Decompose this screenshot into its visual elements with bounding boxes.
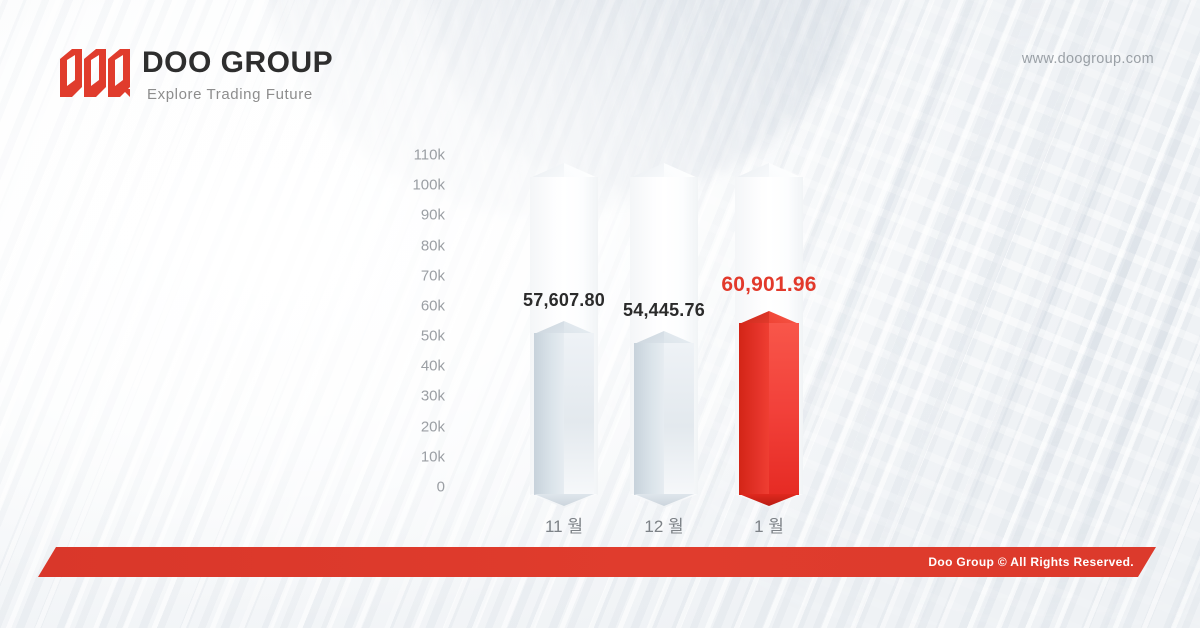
bar-highlighted[interactable] xyxy=(739,311,799,495)
bar-value[interactable] xyxy=(534,321,594,495)
bar-container-top xyxy=(530,163,598,178)
x-axis-category-label: 1 월 xyxy=(754,512,784,537)
bar-value[interactable] xyxy=(634,331,694,495)
infographic-canvas: DOO GROUP Explore Trading Future www.doo… xyxy=(0,0,1200,628)
x-axis-category-label: 12 월 xyxy=(644,512,683,537)
y-axis-tick: 80k xyxy=(390,237,445,254)
bar-value-label: 54,445.76 xyxy=(623,300,705,321)
bar-container-top xyxy=(735,163,803,178)
bar-base-face xyxy=(534,494,594,506)
y-axis-tick: 110k xyxy=(390,147,445,164)
y-axis-tick: 10k xyxy=(390,448,445,465)
bar-value-label: 57,607.80 xyxy=(523,290,605,311)
plot-area: 57,607.8011 월54,445.7612 월60,901.961 월 xyxy=(470,163,850,495)
y-axis-tick: 0 xyxy=(390,479,445,496)
bar-side-faces xyxy=(739,323,799,495)
y-axis-tick: 30k xyxy=(390,388,445,405)
y-axis: 110k100k90k80k70k60k50k40k30k20k10k0 xyxy=(390,155,445,495)
bar-container-top xyxy=(630,163,698,178)
bar-value-label: 60,901.96 xyxy=(721,273,816,297)
bar-base-face xyxy=(634,494,694,506)
x-axis-category-label: 11 월 xyxy=(545,512,583,537)
bar-side-faces xyxy=(534,333,594,495)
bar-chart: 110k100k90k80k70k60k50k40k30k20k10k0 57,… xyxy=(0,0,1200,628)
y-axis-tick: 90k xyxy=(390,207,445,224)
footer-copyright: Doo Group © All Rights Reserved. xyxy=(928,555,1134,569)
y-axis-tick: 20k xyxy=(390,418,445,435)
y-axis-tick: 70k xyxy=(390,267,445,284)
y-axis-tick: 100k xyxy=(390,177,445,194)
bar-side-faces xyxy=(634,343,694,495)
y-axis-tick: 40k xyxy=(390,358,445,375)
y-axis-tick: 50k xyxy=(390,328,445,345)
bar-base-face xyxy=(739,494,799,506)
y-axis-tick: 60k xyxy=(390,297,445,314)
